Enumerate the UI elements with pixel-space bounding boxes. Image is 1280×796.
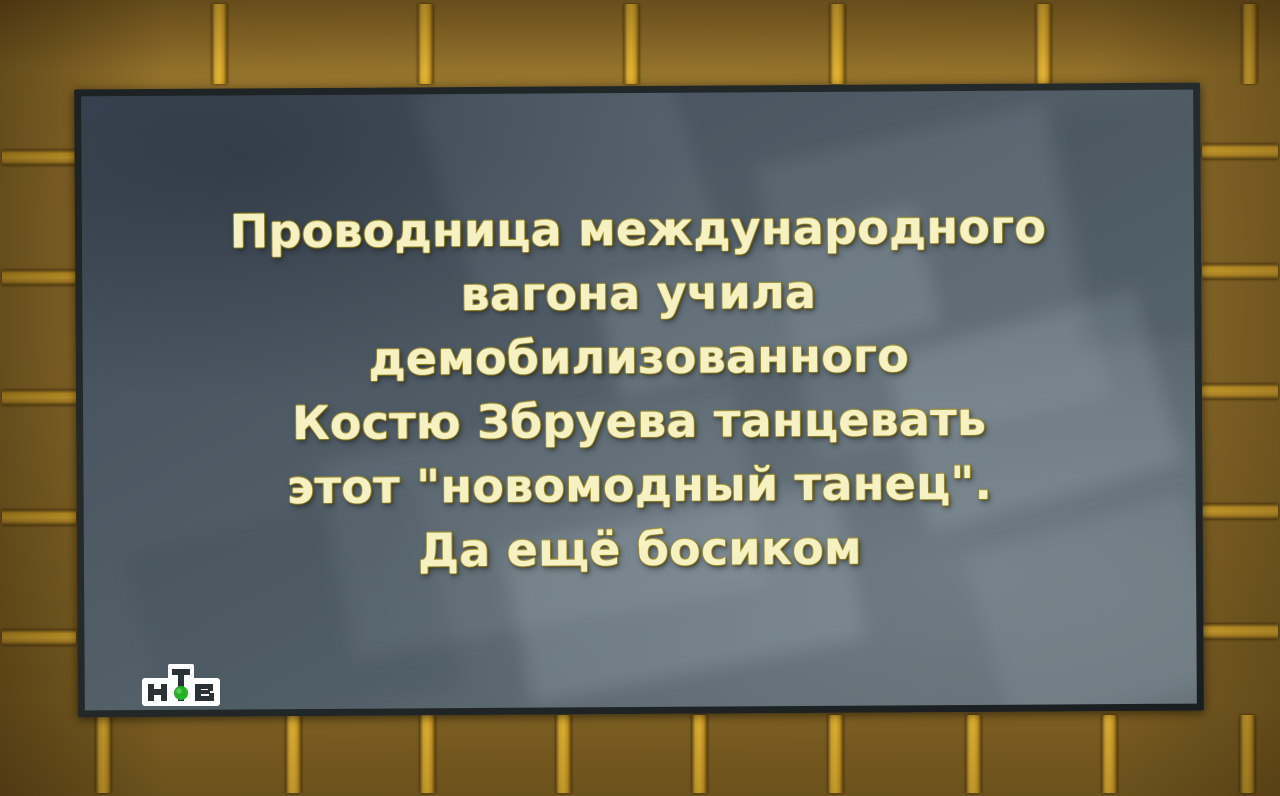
screenshot-stage: Проводница международного вагона учила д…: [0, 0, 1280, 796]
wood-frame-left: [0, 88, 78, 712]
ntv-logo-green-ball: [174, 686, 188, 700]
display-screen: Проводница международного вагона учила д…: [81, 90, 1197, 711]
wood-frame-bottom: [0, 712, 1280, 796]
ntv-logo: [139, 660, 223, 716]
wood-frame-right: [1200, 88, 1280, 712]
display-panel: Проводница международного вагона учила д…: [74, 83, 1204, 718]
wood-frame-top: [0, 0, 1280, 88]
light-streak: [962, 492, 1197, 711]
